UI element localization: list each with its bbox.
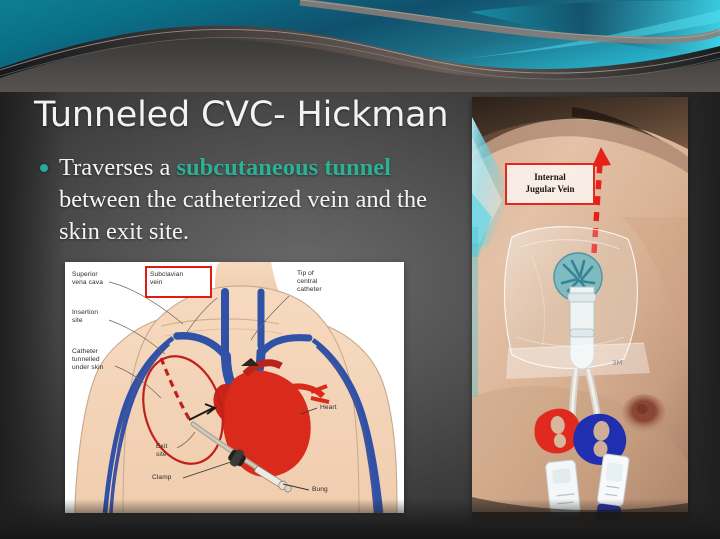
photo-callout-internal-jugular-vein: Internal Jugular Vein: [505, 163, 595, 205]
presentation-slide: Tunneled CVC- Hickman Traverses a subcut…: [0, 0, 720, 539]
diagram-label-exit-site: Exitsite: [156, 443, 167, 459]
bullet-text-after: between the catheterized vein and the sk…: [59, 186, 427, 245]
svg-text:3M: 3M: [612, 359, 623, 367]
diagram-label-clamp: Clamp: [152, 474, 172, 482]
diagram-label-catheter-tunnelled: Cathetertunnelledunder skin: [72, 348, 103, 371]
diagram-label-superior-vena-cava: Superiorvena cava: [72, 271, 103, 287]
bullet-dot-icon: [40, 164, 48, 172]
anatomy-diagram: Superiorvena cava Insertionsite Catheter…: [65, 262, 404, 513]
bullet-text: Traverses a subcutaneous tunnel between …: [59, 152, 466, 248]
clinical-photo-graphic: 3M: [472, 97, 688, 520]
diagram-label-insertion-site: Insertionsite: [72, 309, 98, 325]
diagram-label-heart: Heart: [320, 404, 337, 412]
slide-body: Traverses a subcutaneous tunnel between …: [36, 152, 466, 248]
photo-callout-line-1: Internal: [534, 172, 566, 184]
bullet-text-before: Traverses a: [59, 154, 177, 181]
diagram-label-bung: Bung: [312, 486, 328, 494]
bullet-highlight: subcutaneous tunnel: [177, 154, 391, 181]
slide-bottom-shading: [0, 499, 720, 539]
diagram-label-tip-of-central-catheter: Tip ofcentralcatheter: [297, 270, 322, 293]
slide-title: Tunneled CVC- Hickman: [34, 97, 504, 134]
anatomy-diagram-graphic: [65, 262, 404, 513]
clinical-photo: 3M: [472, 97, 688, 520]
diagram-label-subclavian-vein: Subclavianvein: [150, 271, 183, 287]
decorative-wave-banner: [0, 0, 720, 92]
wave-banner-graphic: [0, 0, 720, 92]
bullet-item: Traverses a subcutaneous tunnel between …: [36, 152, 466, 248]
photo-callout-line-2: Jugular Vein: [525, 184, 574, 196]
